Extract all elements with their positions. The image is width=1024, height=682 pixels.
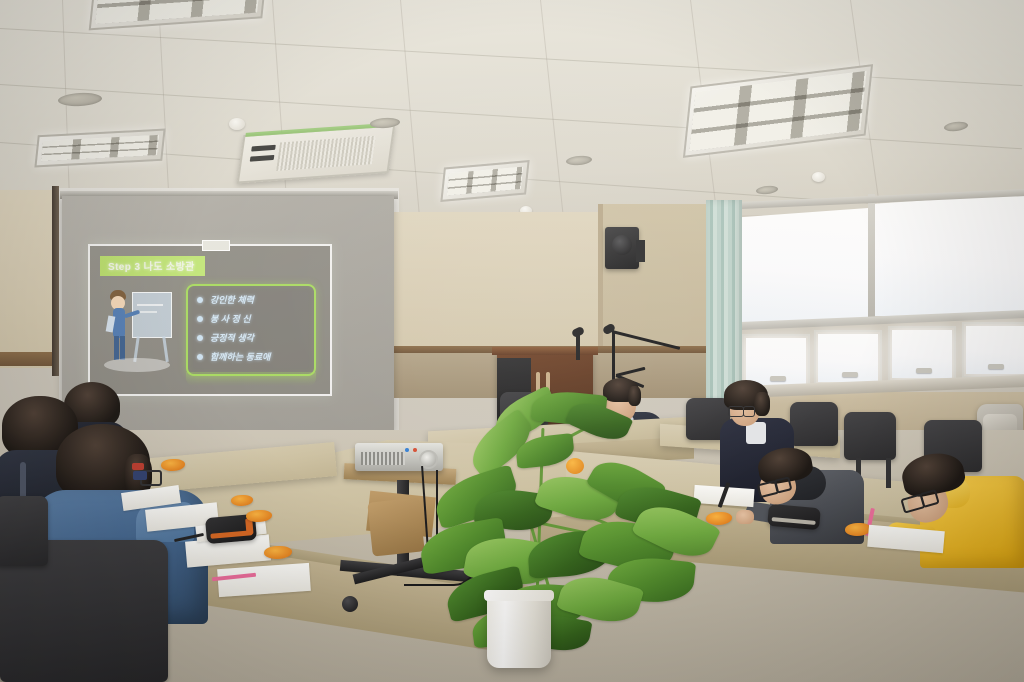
eraser — [133, 471, 147, 480]
slide-box-glow — [186, 372, 316, 386]
ceiling-light-fixture — [34, 129, 165, 168]
window-pane-upper-left — [740, 208, 868, 324]
wall-left-panel — [0, 190, 52, 368]
recessed-downlight — [566, 155, 593, 166]
projected-slide: Step 3 나도 소방관 — [88, 244, 332, 396]
slide-bullet-item: 봉 사 정 신 — [197, 312, 314, 325]
bullet-dot-icon — [197, 354, 203, 360]
philodendron-plant — [420, 392, 720, 682]
cart-caster — [342, 596, 358, 612]
ceiling-light-fixture — [683, 64, 873, 158]
chair-wood-back[interactable] — [367, 497, 424, 556]
slide-bullet-item: 함께하는 동료애 — [197, 350, 314, 363]
cabinet-top — [492, 347, 598, 355]
eyeglasses-icon — [743, 406, 755, 417]
bullet-dot-icon — [197, 316, 203, 322]
eyeglasses-icon — [728, 406, 744, 417]
bullet-dot-icon — [197, 297, 203, 303]
wall-shadow-gap — [52, 186, 59, 376]
classroom-photo: Step 3 나도 소방관 — [0, 0, 1024, 682]
slide-bullet-box: 강인한 체력 봉 사 정 신 긍정적 생각 함께하는 동료애 — [186, 284, 316, 376]
sharpener — [132, 463, 144, 470]
wall-base-trim — [0, 352, 52, 366]
pencil-case[interactable] — [767, 504, 821, 530]
window-mullion-vertical — [868, 194, 875, 324]
recessed-downlight — [370, 117, 401, 129]
projector-vent — [361, 452, 405, 465]
speaker-cone-icon — [612, 235, 632, 255]
window-wall — [712, 172, 1024, 402]
ceiling-air-conditioner — [237, 124, 395, 183]
recessed-downlight — [944, 121, 969, 133]
slide-top-tab — [202, 240, 230, 251]
smoke-detector — [229, 118, 245, 130]
slide-bullet-item: 긍정적 생각 — [197, 331, 314, 344]
window-handle[interactable] — [842, 372, 858, 377]
chair-left-2[interactable] — [0, 496, 48, 566]
window-pane-upper-right — [874, 194, 1024, 316]
window-sash-3[interactable] — [888, 326, 956, 382]
window-sash-4[interactable] — [962, 322, 1024, 378]
window-handle[interactable] — [988, 364, 1004, 369]
bullet-dot-icon — [197, 335, 203, 341]
ceiling-light-fixture — [440, 160, 529, 202]
slide-clipart-presenter — [104, 286, 176, 378]
window-handle[interactable] — [916, 368, 932, 373]
window-sash-2[interactable] — [814, 330, 882, 386]
table-microphone — [576, 334, 580, 360]
ceiling-light-fixture — [89, 0, 270, 30]
chair-leg — [886, 458, 891, 488]
plant-pot — [487, 592, 551, 668]
plant-pot-rim — [484, 590, 554, 601]
slide-bullet-item: 강인한 체력 — [197, 293, 314, 306]
speaker-bracket — [636, 240, 645, 262]
slide-title: Step 3 나도 소방관 — [100, 256, 205, 276]
wall-speaker — [605, 227, 639, 269]
